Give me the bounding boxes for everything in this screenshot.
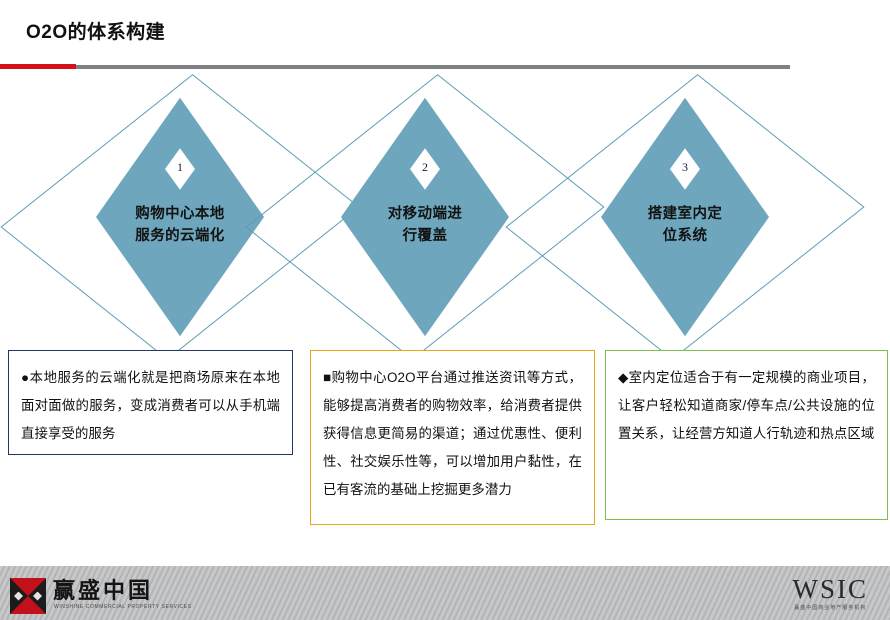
title-divider-accent [0,64,76,69]
footer-brand-subtitle: WINSHINE COMMERCIAL PROPERTY SERVICES [54,604,192,610]
diamond-label-3-line2: 位系统 [605,225,765,247]
note-text-3: ◆室内定位适合于有一定规模的商业项目，让客户轻松知道商家/停车点/公共设施的位置… [618,364,875,448]
logo-diamond-right [33,592,42,601]
diamond-number-3: 3 [670,160,700,175]
note-text-2: ■购物中心O2O平台通过推送资讯等方式，能够提高消费者的购物效率，给消费者提供获… [323,364,582,504]
page-title: O2O的体系构建 [26,17,165,44]
diamond-label-2: 对移动端进 行覆盖 [345,203,505,247]
diamond-row: 1 购物中心本地 服务的云端化 2 对移动端进 行覆盖 3 搭建室内定 位系统 [0,92,890,342]
diamond-label-2-line1: 对移动端进 [345,203,505,225]
title-divider [0,63,890,71]
diamond-label-1-line1: 购物中心本地 [100,203,260,225]
diamond-label-1-line2: 服务的云端化 [100,225,260,247]
logo-shape-top [10,578,46,596]
logo-diamond-left [14,592,23,601]
note-box-2: ■购物中心O2O平台通过推送资讯等方式，能够提高消费者的购物效率，给消费者提供获… [310,350,595,525]
footer-wsic-text: WSIC [793,575,869,603]
footer-wsic-subtitle: 赢盛中国商业地产服务机构 [793,604,869,611]
diamond-number-2: 2 [410,160,440,175]
diamond-label-2-line2: 行覆盖 [345,225,505,247]
logo-shape-bottom [10,596,46,614]
diamond-label-3-line1: 搭建室内定 [605,203,765,225]
diamond-label-3: 搭建室内定 位系统 [605,203,765,247]
note-text-1: ●本地服务的云端化就是把商场原来在本地面对面做的服务，变成消费者可以从手机端直接… [21,364,280,448]
footer-brand-name: 赢盛中国 [53,578,153,604]
diamond-number-1: 1 [165,160,195,175]
diamond-label-1: 购物中心本地 服务的云端化 [100,203,260,247]
note-box-3: ◆室内定位适合于有一定规模的商业项目，让客户轻松知道商家/停车点/公共设施的位置… [605,350,888,520]
footer-wsic-logo: WSIC 赢盛中国商业地产服务机构 [793,575,869,611]
diamond-step-3[interactable]: 3 搭建室内定 位系统 [535,92,835,342]
title-divider-line [76,65,790,69]
company-logo-icon [10,578,46,614]
note-box-1: ●本地服务的云端化就是把商场原来在本地面对面做的服务，变成消费者可以从手机端直接… [8,350,293,455]
